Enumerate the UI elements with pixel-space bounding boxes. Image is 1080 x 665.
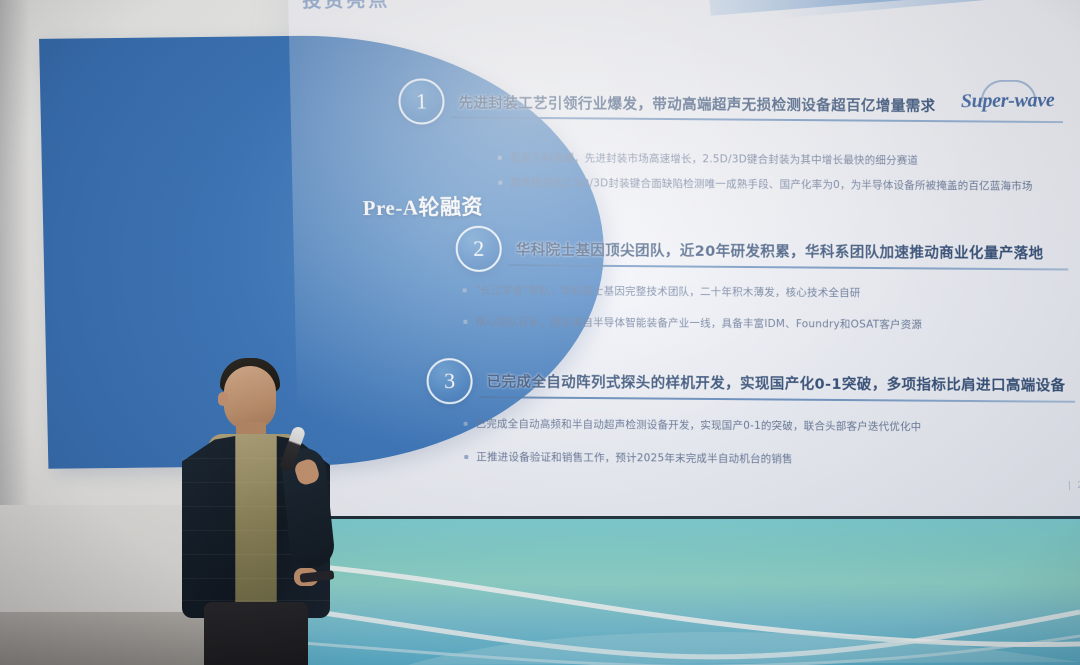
point-number-1: 1	[398, 78, 445, 125]
presenter-trousers	[204, 602, 308, 665]
point-3-bullet-2: 正推进设备验证和销售工作，预计2025年末完成半自动机台的销售	[464, 449, 793, 466]
super-wave-logo: Super-wave	[942, 79, 1073, 120]
point-1-bullet-1-text: 受益于AI浪潮，先进封装市场高速增长，2.5D/3D键合封装为其中增长最快的细分…	[510, 152, 918, 167]
bullet-dot-icon	[464, 422, 468, 426]
point-3-bullet-1-text: 已完成全自动高频和半自动超声检测设备开发，实现国产0-1的突破，联合头部客户迭代…	[476, 418, 922, 433]
bullet-dot-icon	[498, 156, 502, 160]
point-1-bullet-2-text: 超声检测为2.5D/3D封装键合面缺陷检测唯一成熟手段、国产化率为0，为半导体设…	[510, 177, 1032, 193]
point-number-2: 2	[455, 226, 502, 273]
bullet-dot-icon	[463, 320, 467, 324]
wave-lines-decoration	[288, 516, 1080, 665]
point-1-bullet-1: 受益于AI浪潮，先进封装市场高速增长，2.5D/3D键合封装为其中增长最快的细分…	[498, 150, 918, 168]
point-number-2-text: 2	[473, 236, 485, 262]
point-3-bullet-2-text: 正推进设备验证和销售工作，预计2025年末完成半自动机台的销售	[476, 451, 793, 465]
point-2-bullet-1-text: “长江学者”带队，华科院士基因完整技术团队，二十年积木薄发，核心技术全自研	[475, 284, 861, 299]
point-1-headline: 先进封装工艺引领行业爆发，带动高端超声无损检测设备超百亿增量需求	[459, 92, 936, 116]
presenter-head	[224, 366, 276, 430]
point-2-headline: 华科院士基因顶尖团队，近20年研发积累，华科系团队加速推动商业化量产落地	[516, 239, 1044, 264]
slide-page-marker: | 2	[1068, 480, 1080, 491]
point-3-bullet-1: 已完成全自动高频和半自动超声检测设备开发，实现国产0-1的突破，联合头部客户迭代…	[464, 416, 922, 434]
bullet-dot-icon	[498, 181, 502, 185]
point-2-bullet-2-text: 核心团队互补，团队来自半导体智能装备产业一线，具备丰富IDM、Foundry和O…	[475, 316, 922, 331]
screenshot-stage: 江城基金 JIANG CHENG FUND 投资亮点 Pre-A轮融资 Supe…	[0, 0, 1080, 665]
bullet-dot-icon	[463, 288, 467, 292]
super-wave-logo-text: Super-wave	[942, 89, 1073, 113]
slide-title: 投资亮点	[302, 0, 391, 13]
point-number-3: 3	[426, 358, 473, 405]
point-number-1-text: 1	[416, 88, 428, 114]
point-2-bullet-2: 核心团队互补，团队来自半导体智能装备产业一线，具备丰富IDM、Foundry和O…	[463, 314, 922, 332]
point-number-3-text: 3	[444, 368, 456, 394]
presenter	[168, 352, 343, 665]
point-2-bullet-1: “长江学者”带队，华科院士基因完整技术团队，二十年积木薄发，核心技术全自研	[463, 282, 861, 300]
bullet-dot-icon	[464, 455, 468, 459]
slide-top-ribbon-accent	[769, 0, 1080, 19]
teal-wave-wall	[288, 516, 1080, 665]
presenter-ear	[218, 392, 228, 406]
projected-slide: 投资亮点 Pre-A轮融资 Super-wave 1 先进封装工艺引领行业爆发，…	[288, 0, 1080, 528]
funding-round-label: Pre-A轮融资	[322, 190, 523, 222]
point-3-headline: 已完成全自动阵列式探头的样机开发，实现国产化0-1突破，多项指标比肩进口高端设备	[487, 370, 1066, 395]
point-3-rule	[479, 396, 1075, 403]
